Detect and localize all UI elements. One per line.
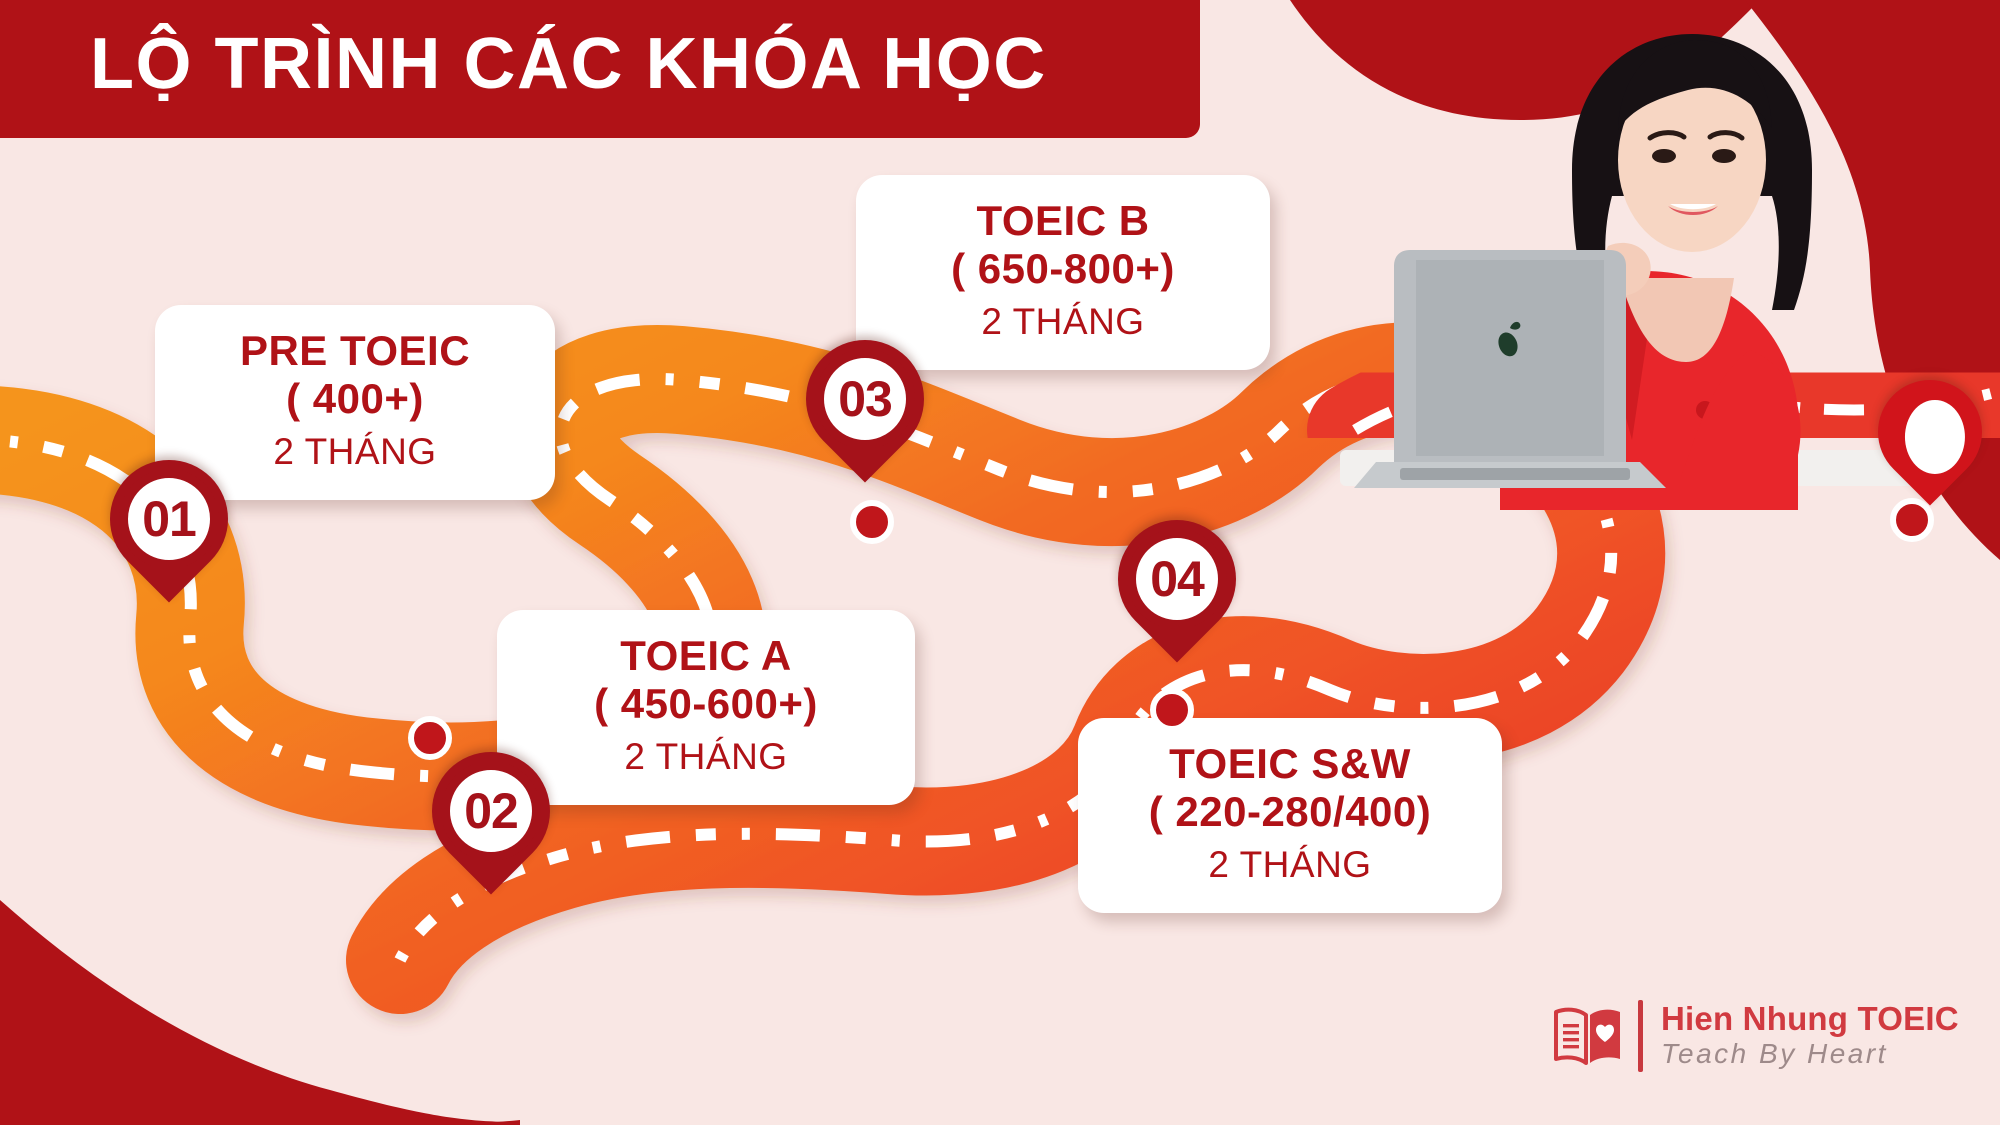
brand-logo[interactable]: Hien Nhung TOEIC Teach By Heart [1552, 1000, 1959, 1072]
road-stop-dot-final [1890, 498, 1934, 542]
road-stop-dot-3 [850, 500, 894, 544]
course-title: PRE TOEIC [189, 327, 521, 374]
course-score-range: ( 400+) [189, 374, 521, 424]
pin-teardrop-icon [1856, 358, 2000, 505]
course-duration: 2 THÁNG [890, 298, 1236, 346]
course-score-range: ( 450-600+) [531, 679, 881, 729]
pin-number-label: 04 [1150, 554, 1204, 604]
instructor-photo [1320, 10, 1940, 510]
pin-teardrop-icon: 03 [782, 316, 949, 483]
course-duration: 2 THÁNG [1112, 841, 1468, 889]
pin-disc: 02 [441, 761, 541, 861]
laptop-lid-inner [1416, 260, 1604, 456]
pin-teardrop-icon: 01 [86, 436, 253, 603]
course-title: TOEIC S&W [1112, 740, 1468, 787]
eye-left [1652, 149, 1676, 163]
map-pin-01[interactable]: 01 [110, 460, 228, 578]
map-pin-04[interactable]: 04 [1118, 520, 1236, 638]
map-pin-02[interactable]: 02 [432, 752, 550, 870]
pin-teardrop-icon: 04 [1094, 496, 1261, 663]
pin-disc: 03 [815, 349, 915, 449]
course-duration: 2 THÁNG [189, 428, 521, 476]
pin-teardrop-icon: 02 [408, 728, 575, 895]
pin-number-label: 01 [142, 494, 196, 544]
laptop-keyboard [1400, 468, 1630, 480]
course-score-range: ( 650-800+) [890, 244, 1236, 294]
brand-name: Hien Nhung TOEIC [1661, 1001, 1959, 1037]
course-title: TOEIC A [531, 632, 881, 679]
logo-divider [1638, 1000, 1643, 1072]
infographic-canvas: LỘ TRÌNH CÁC KHÓA HỌC [0, 0, 2000, 1125]
header-banner: LỘ TRÌNH CÁC KHÓA HỌC [0, 0, 1200, 138]
map-pin-destination[interactable] [1878, 380, 1982, 484]
map-pin-03[interactable]: 03 [806, 340, 924, 458]
eye-right [1712, 149, 1736, 163]
course-duration: 2 THÁNG [531, 733, 881, 781]
pin-disc: 01 [119, 469, 219, 569]
road-stop-dot-4 [1150, 688, 1194, 732]
brand-tagline: Teach By Heart [1661, 1037, 1959, 1071]
logo-text-block: Hien Nhung TOEIC Teach By Heart [1661, 1001, 1959, 1071]
pin-disc: 04 [1127, 529, 1227, 629]
pin-number-label: 03 [838, 374, 892, 424]
pin-number-label: 02 [464, 786, 518, 836]
open-book-heart-icon [1552, 1000, 1624, 1072]
course-card-toeic-a[interactable]: TOEIC A ( 450-600+) 2 THÁNG [497, 610, 915, 805]
course-card-toeic-sw[interactable]: TOEIC S&W ( 220-280/400) 2 THÁNG [1078, 718, 1502, 913]
course-score-range: ( 220-280/400) [1112, 787, 1468, 837]
pin-disc [1905, 400, 1965, 474]
page-title: LỘ TRÌNH CÁC KHÓA HỌC [90, 28, 1047, 100]
course-title: TOEIC B [890, 197, 1236, 244]
